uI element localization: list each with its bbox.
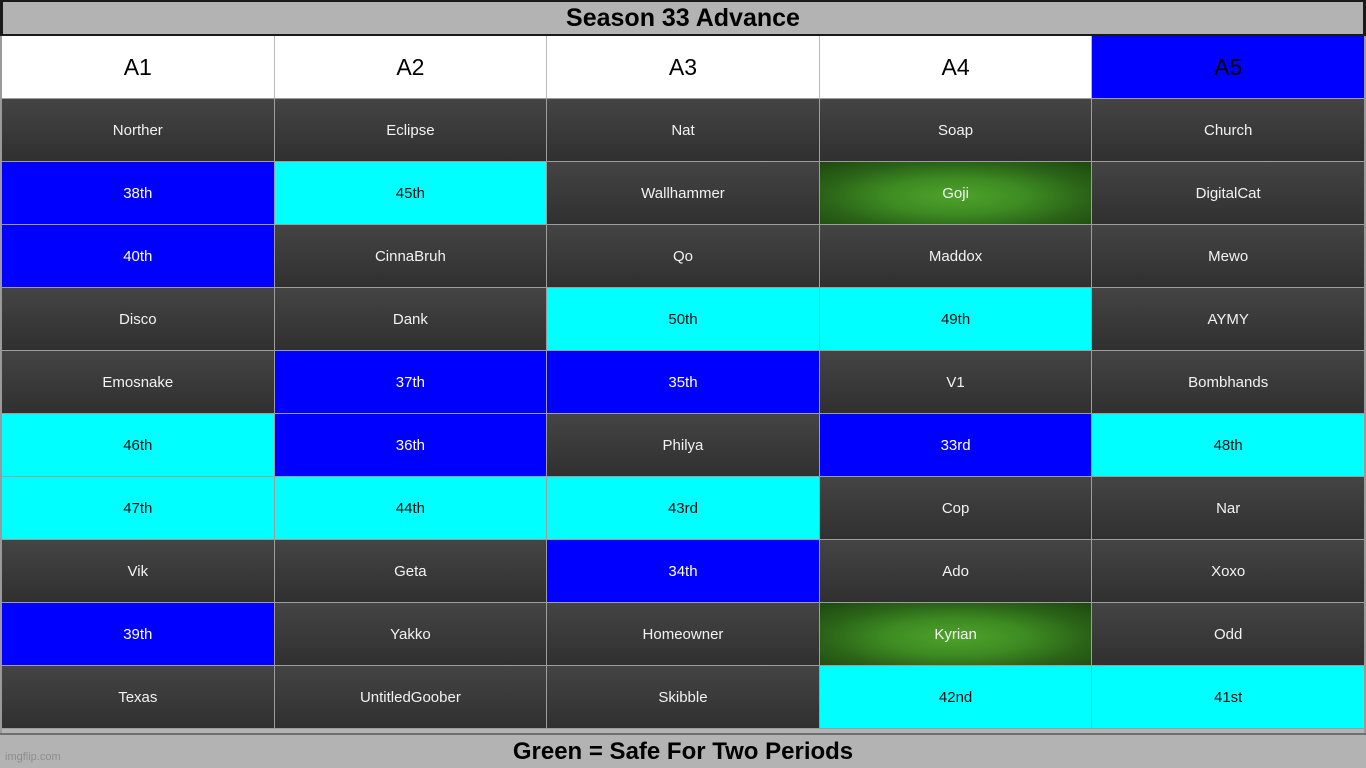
table-cell[interactable]: Eclipse [275, 99, 548, 162]
table-cell[interactable]: 44th [275, 477, 548, 540]
table-row: 47th44th43rdCopNar [2, 477, 1364, 540]
table-cell[interactable]: Soap [820, 99, 1093, 162]
table-cell[interactable]: 43rd [547, 477, 820, 540]
table-cell[interactable]: CinnaBruh [275, 225, 548, 288]
table-row: 39thYakkoHomeownerKyrianOdd [2, 603, 1364, 666]
table-cell[interactable]: Nar [1092, 477, 1364, 540]
table-cell[interactable]: DigitalCat [1092, 162, 1364, 225]
column-header-a2[interactable]: A2 [275, 36, 548, 99]
column-header-a3[interactable]: A3 [547, 36, 820, 99]
table-row: TexasUntitledGooberSkibble42nd41st [2, 666, 1364, 729]
table-row: 40thCinnaBruhQoMaddoxMewo [2, 225, 1364, 288]
table-cell[interactable]: Skibble [547, 666, 820, 729]
bracket-screenshot: Season 33 Advance A1A2A3A4A5 NortherEcli… [0, 0, 1366, 768]
table-cell[interactable]: Norther [2, 99, 275, 162]
table-cell[interactable]: 42nd [820, 666, 1093, 729]
table-cell[interactable]: Philya [547, 414, 820, 477]
table-cell[interactable]: 39th [2, 603, 275, 666]
table-cell[interactable]: Homeowner [547, 603, 820, 666]
table-row: NortherEclipseNatSoapChurch [2, 99, 1364, 162]
table-cell[interactable]: AYMY [1092, 288, 1364, 351]
table-cell[interactable]: Qo [547, 225, 820, 288]
table-row: 38th45thWallhammerGojiDigitalCat [2, 162, 1364, 225]
legend-caption: Green = Safe For Two Periods [513, 740, 853, 764]
table-cell[interactable]: 38th [2, 162, 275, 225]
table-cell[interactable]: Dank [275, 288, 548, 351]
table-cell[interactable]: 49th [820, 288, 1093, 351]
table-cell[interactable]: 35th [547, 351, 820, 414]
table-cell[interactable]: Maddox [820, 225, 1093, 288]
table-cell[interactable]: Geta [275, 540, 548, 603]
table-cell[interactable]: 50th [547, 288, 820, 351]
table-cell[interactable]: Emosnake [2, 351, 275, 414]
table-cell[interactable]: 47th [2, 477, 275, 540]
table-cell[interactable]: Odd [1092, 603, 1364, 666]
column-header-a5[interactable]: A5 [1092, 36, 1364, 99]
table-cell[interactable]: Goji [820, 162, 1093, 225]
table-cell[interactable]: Kyrian [820, 603, 1093, 666]
table-cell[interactable]: Bombhands [1092, 351, 1364, 414]
table-row: 46th36thPhilya33rd48th [2, 414, 1364, 477]
table-cell[interactable]: 45th [275, 162, 548, 225]
table-cell[interactable]: 46th [2, 414, 275, 477]
table-cell[interactable]: Ado [820, 540, 1093, 603]
table-cell[interactable]: V1 [820, 351, 1093, 414]
table-cell[interactable]: 37th [275, 351, 548, 414]
table-cell[interactable]: Xoxo [1092, 540, 1364, 603]
watermark: imgflip.com [5, 751, 61, 763]
table-cell[interactable]: Mewo [1092, 225, 1364, 288]
table-cell[interactable]: 34th [547, 540, 820, 603]
table-body: NortherEclipseNatSoapChurch38th45thWallh… [2, 99, 1364, 729]
title-bar: Season 33 Advance [0, 0, 1366, 36]
table-row: DiscoDank50th49thAYMY [2, 288, 1364, 351]
table-cell[interactable]: UntitledGoober [275, 666, 548, 729]
table-header-row: A1A2A3A4A5 [2, 36, 1364, 99]
page-title: Season 33 Advance [566, 6, 800, 31]
table-cell[interactable]: Wallhammer [547, 162, 820, 225]
table-cell[interactable]: 40th [2, 225, 275, 288]
table-cell[interactable]: 33rd [820, 414, 1093, 477]
column-header-a4[interactable]: A4 [820, 36, 1093, 99]
table-cell[interactable]: Yakko [275, 603, 548, 666]
table-row: Emosnake37th35thV1Bombhands [2, 351, 1364, 414]
table-cell[interactable]: 41st [1092, 666, 1364, 729]
table-row: VikGeta34thAdoXoxo [2, 540, 1364, 603]
table-cell[interactable]: Nat [547, 99, 820, 162]
caption-bar: Green = Safe For Two Periods [0, 733, 1366, 768]
table-cell[interactable]: 36th [275, 414, 548, 477]
table-cell[interactable]: Disco [2, 288, 275, 351]
table-cell[interactable]: 48th [1092, 414, 1364, 477]
advance-table: A1A2A3A4A5 NortherEclipseNatSoapChurch38… [0, 36, 1366, 733]
table-cell[interactable]: Cop [820, 477, 1093, 540]
column-header-a1[interactable]: A1 [2, 36, 275, 99]
table-cell[interactable]: Texas [2, 666, 275, 729]
table-cell[interactable]: Church [1092, 99, 1364, 162]
table-cell[interactable]: Vik [2, 540, 275, 603]
